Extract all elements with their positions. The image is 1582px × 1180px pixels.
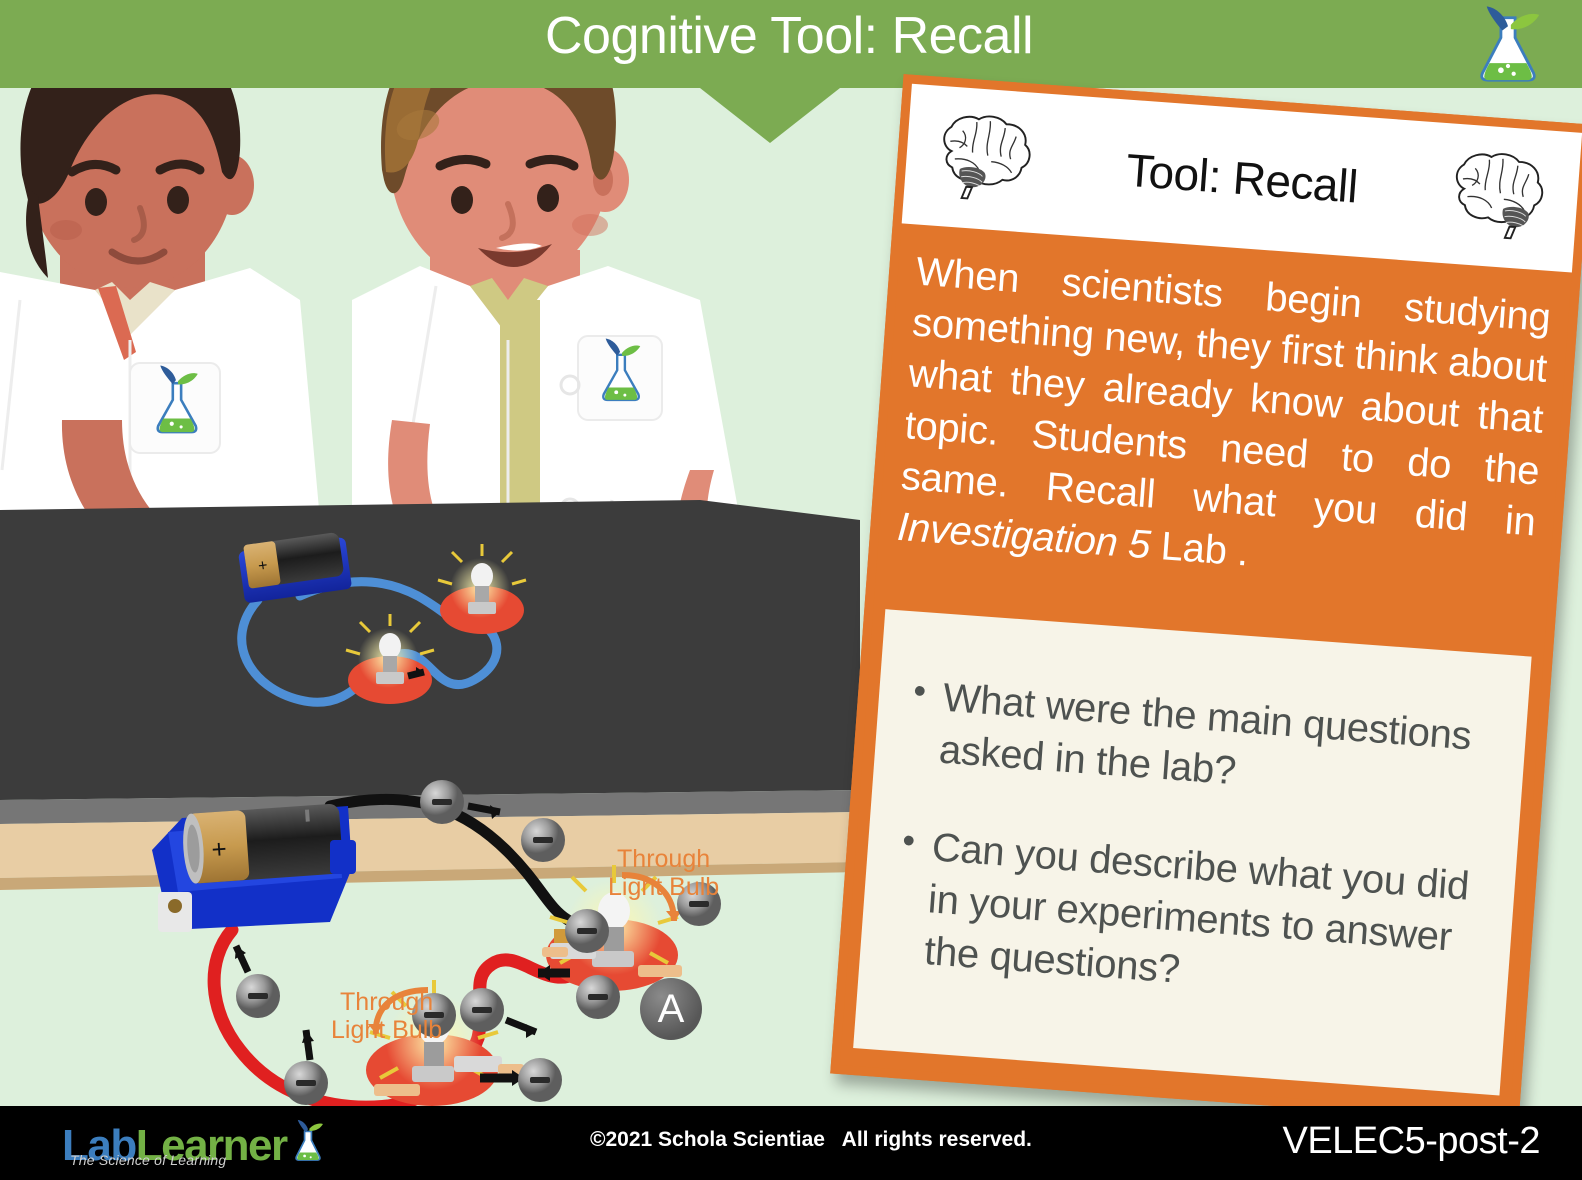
page-title: Cognitive Tool: Recall [545,6,1033,66]
card-body-text: When scientists begin studying something… [874,223,1572,653]
card-body-part2: Lab . [1149,523,1250,574]
logo-tagline: The Science of Learning [70,1152,226,1168]
svg-text:+: + [210,833,227,864]
card-body-part1: When scientists begin studying something… [900,250,1553,545]
through-light-bulb-label-b: Through Light Bulb [331,988,442,1044]
brain-icon [1436,145,1561,249]
card-title: Tool: Recall [1042,137,1441,220]
copyright-text: ©2021 Schola Scientiae All rights reserv… [590,1128,1032,1152]
slide-code: VELEC5-post-2 [1282,1120,1540,1163]
lab-table [0,500,860,890]
brain-icon [923,107,1048,211]
slide-canvas: + [0,0,1582,1180]
flask-icon [1472,5,1544,83]
battery-holder: + [152,803,356,932]
card-body-italic: Investigation 5 [896,505,1152,567]
header-pointer-notch [700,88,840,143]
list-item: What were the main questions asked in th… [907,670,1497,816]
through-light-bulb-label-a: Through Light Bulb [608,845,719,901]
circuit-node-a: A [640,978,702,1040]
card-question-list: What were the main questions asked in th… [853,609,1531,1095]
footer-bar: LabLearner The Science of Learning ©2021… [0,1106,1582,1180]
cognitive-tool-card: Tool: Recall [830,74,1582,1124]
list-item: Can you describe what you did in your ex… [893,819,1487,1017]
flask-icon [291,1116,325,1168]
